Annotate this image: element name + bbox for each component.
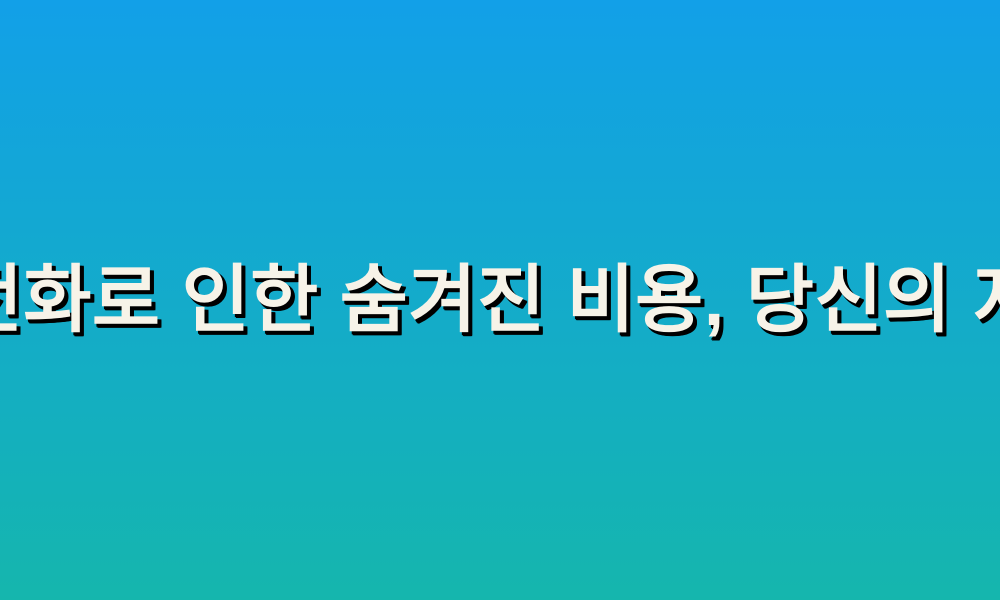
headline-band: 램전화로 인한 숨겨진 비용, 당신의 지갑 — [0, 0, 1000, 600]
slide-canvas: 램전화로 인한 숨겨진 비용, 당신의 지갑 — [0, 0, 1000, 600]
headline-text: 램전화로 인한 숨겨진 비용, 당신의 지갑 — [0, 263, 1000, 337]
